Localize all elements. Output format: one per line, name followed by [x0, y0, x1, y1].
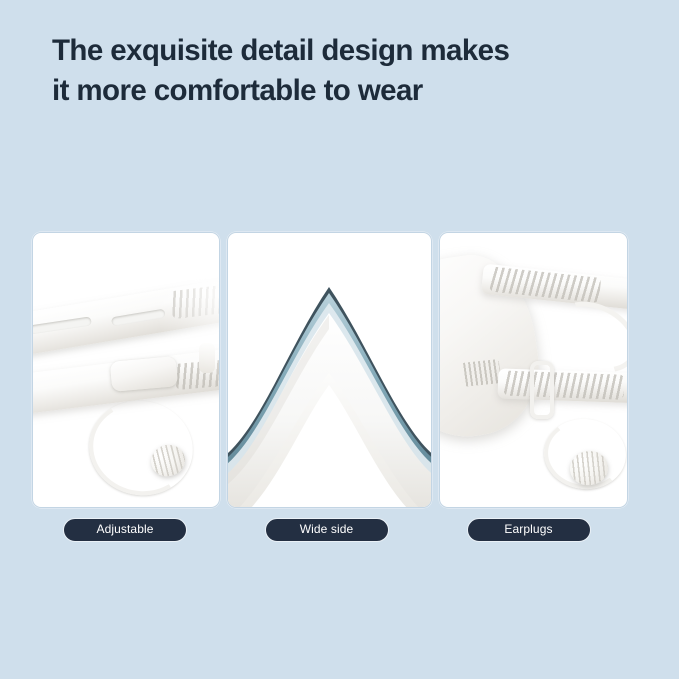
- product-photo-wide-side: [228, 233, 431, 507]
- badge-cell-earplugs: Earplugs: [435, 518, 622, 542]
- goggle-strap-lower: [498, 368, 627, 403]
- badge-adjustable: Adjustable: [63, 518, 187, 542]
- feature-panel-wide-side: [227, 232, 432, 508]
- product-photo-adjustable: [33, 233, 219, 507]
- feature-panel-row: [32, 232, 637, 508]
- badge-earplugs: Earplugs: [467, 518, 591, 542]
- photo-highlight: [153, 233, 219, 383]
- feature-badge-row: Adjustable Wide side Earplugs: [32, 518, 637, 542]
- strap-slot: [33, 316, 92, 334]
- badge-wide-side: Wide side: [265, 518, 389, 542]
- badge-cell-adjustable: Adjustable: [32, 518, 218, 542]
- product-photo-earplugs: [440, 233, 627, 507]
- frame-strap-slot: [461, 359, 501, 387]
- nose-bridge-svg: [228, 233, 431, 507]
- nose-bridge-arch: [228, 233, 431, 507]
- feature-panel-adjustable: [32, 232, 220, 508]
- page-title: The exquisite detail design makes it mor…: [52, 31, 652, 111]
- earplug-cord: [80, 391, 201, 505]
- headline-line-2: it more comfortable to wear: [52, 71, 652, 111]
- strap-keeper-loop: [530, 361, 554, 419]
- badge-cell-wide-side: Wide side: [225, 518, 428, 542]
- strap-ridges: [504, 371, 625, 400]
- feature-panel-earplugs: [439, 232, 628, 508]
- headline-line-1: The exquisite detail design makes: [52, 31, 652, 71]
